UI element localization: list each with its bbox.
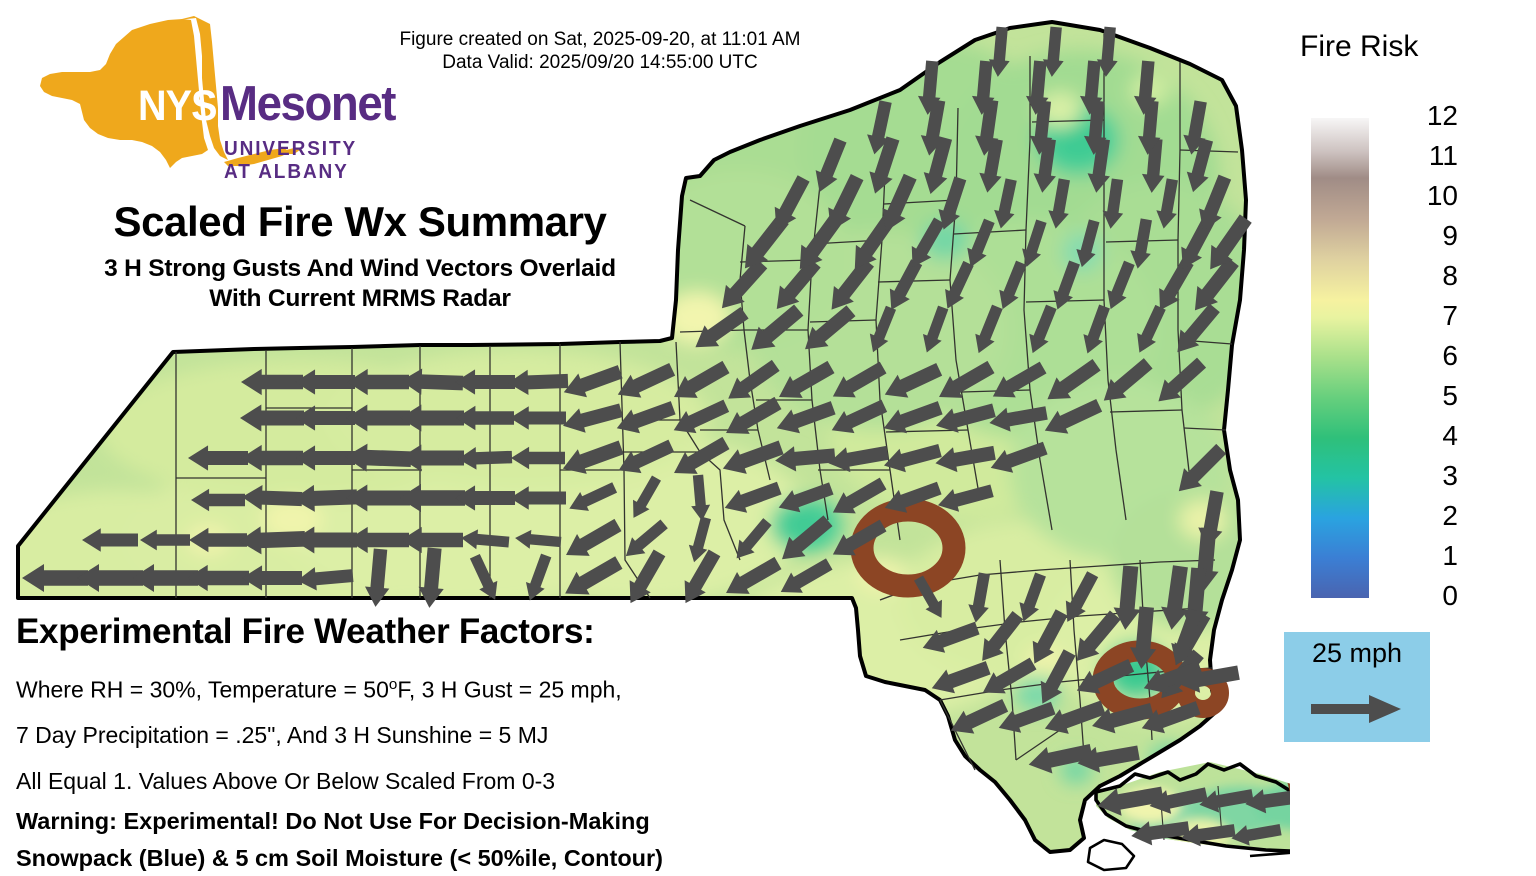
colorbar-title: Fire Risk [1300,30,1418,64]
colorbar-tick-5: 5 [1424,380,1458,412]
figure-canvas: NYS Mesonet UNIVERSITY AT ALBANY Figure … [0,0,1536,876]
colorbar-tick-9: 9 [1424,220,1458,252]
subtitle-line-2: With Current MRMS Radar [20,284,700,314]
footer-warning-2: Snowpack (Blue) & 5 cm Soil Moisture (< … [16,845,663,872]
nys-mesonet-logo: NYS Mesonet UNIVERSITY AT ALBANY [28,16,388,171]
data-valid-line: Data Valid: 2025/09/20 14:55:00 UTC [350,51,850,74]
header-timestamps: Figure created on Sat, 2025-09-20, at 11… [350,28,850,74]
footer-line-1: Where RH = 30%, Temperature = 50oF, 3 H … [16,676,622,704]
wind-legend-label: 25 mph [1284,638,1430,669]
colorbar-tick-1: 1 [1424,540,1458,572]
figure-created-line: Figure created on Sat, 2025-09-20, at 11… [350,28,850,51]
colorbar-tick-10: 10 [1424,180,1458,212]
colorbar-tick-12: 12 [1424,100,1458,132]
page-title: Scaled Fire Wx Summary [20,198,700,246]
page-subtitle: 3 H Strong Gusts And Wind Vectors Overla… [20,254,700,314]
colorbar-tick-6: 6 [1424,340,1458,372]
logo-university-text: UNIVERSITY AT ALBANY [224,138,380,184]
colorbar-tick-2: 2 [1424,500,1458,532]
colorbar-tick-0: 0 [1424,580,1458,612]
fire-risk-colorbar[interactable] [1311,118,1369,598]
subtitle-line-1: 3 H Strong Gusts And Wind Vectors Overla… [20,254,700,284]
logo-mesonet-text: Mesonet [220,76,395,132]
right-arrow-icon [1311,692,1403,726]
colorbar-tick-11: 11 [1424,140,1458,172]
footer-line-3: All Equal 1. Values Above Or Below Scale… [16,768,555,795]
logo-nys-text: NYS [138,82,217,131]
footer-line-1a: Where RH = 30%, Temperature = 50 [16,677,389,703]
footer-warning-1: Warning: Experimental! Do Not Use For De… [16,808,650,835]
colorbar-tick-8: 8 [1424,260,1458,292]
colorbar-tick-3: 3 [1424,460,1458,492]
footer-line-1b: F, 3 H Gust = 25 mph, [397,677,621,703]
colorbar-tick-4: 4 [1424,420,1458,452]
wind-vector-legend[interactable]: 25 mph [1284,632,1430,742]
footer-line-2: 7 Day Precipitation = .25", And 3 H Suns… [16,722,548,749]
footer-heading: Experimental Fire Weather Factors: [16,612,595,652]
colorbar-tick-7: 7 [1424,300,1458,332]
